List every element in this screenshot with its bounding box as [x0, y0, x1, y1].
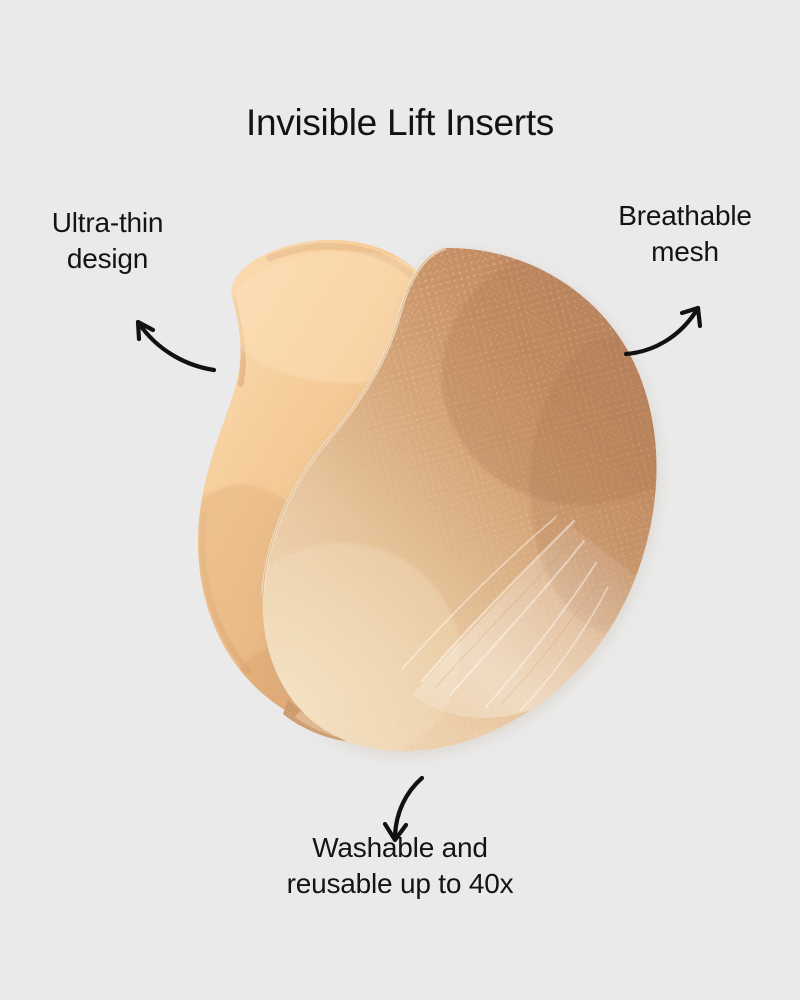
page-title: Invisible Lift Inserts — [0, 103, 800, 143]
callout-breathable-mesh: Breathable mesh — [570, 198, 800, 270]
callout-washable-reusable: Washable and reusable up to 40x — [200, 830, 600, 902]
callout-ultra-thin-design: Ultra-thin design — [0, 205, 215, 277]
product-image — [150, 225, 670, 770]
product-feature-poster: Invisible Lift Inserts — [0, 0, 800, 1000]
